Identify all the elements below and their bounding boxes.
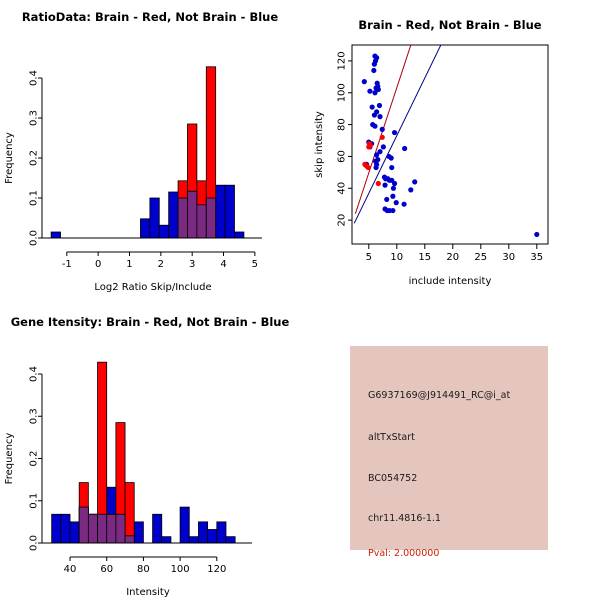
scatter-point [371, 68, 376, 73]
x-tick-label: 35 [530, 252, 543, 263]
y-tick-label: 20 [337, 214, 348, 227]
histogram-bar-overlap [197, 205, 206, 238]
ratio-histogram-title: RatioData: Brain - Red, Not Brain - Blue [0, 10, 300, 24]
y-tick-label: 0.4 [29, 366, 40, 382]
histogram-bar-not-brain [52, 514, 61, 543]
histogram-bar-not-brain [198, 522, 207, 543]
histogram-bar-overlap [187, 191, 196, 238]
scatter-point [377, 103, 382, 108]
y-tick-label: 0.1 [29, 190, 40, 206]
histogram-bar-not-brain [217, 522, 226, 543]
scatter-point [370, 104, 375, 109]
plot-frame [352, 45, 548, 244]
scatter-point [372, 124, 377, 129]
histogram-bar-not-brain [226, 537, 235, 543]
scatter-point [362, 79, 367, 84]
ratio-histogram-panel: RatioData: Brain - Red, Not Brain - Blue… [0, 0, 300, 300]
y-tick-label: 0.3 [29, 110, 40, 126]
x-tick-label: 2 [158, 259, 164, 270]
histogram-bar-not-brain [162, 537, 171, 543]
y-tick-label: 0.2 [29, 150, 40, 166]
histogram-bar-overlap [125, 536, 134, 543]
scatter-point [372, 112, 377, 117]
histogram-bar-not-brain [150, 198, 159, 238]
scatter-point [366, 165, 371, 170]
histogram-bar-not-brain [225, 185, 234, 238]
scatter-point [366, 144, 371, 149]
histogram-bar-overlap [79, 507, 88, 543]
accession-text: BC054752 [368, 473, 417, 484]
x-tick-label: 5 [366, 252, 372, 263]
y-tick-label: 120 [337, 51, 348, 70]
scatter-point [394, 200, 399, 205]
y-axis-label: Frequency [4, 433, 15, 485]
scatter-point [372, 62, 377, 67]
histogram-bar-not-brain [51, 232, 60, 238]
ratio-histogram-plot: 0.00.10.20.30.4-1012345Log2 Ratio Skip/I… [0, 0, 300, 300]
x-tick-label: 60 [100, 564, 113, 575]
y-tick-label: 0.1 [29, 493, 40, 509]
scatter-point [376, 181, 381, 186]
scatter-point [412, 179, 417, 184]
x-tick-label: 20 [446, 252, 459, 263]
x-tick-label: 0 [95, 259, 101, 270]
x-tick-label: 100 [171, 564, 190, 575]
x-axis-label: include intensity [409, 276, 492, 287]
histogram-bar-not-brain [180, 507, 189, 543]
scatter-point [374, 152, 379, 157]
scatter-point [377, 114, 382, 119]
x-axis-label: Log2 Ratio Skip/Include [94, 282, 211, 293]
x-tick-label: 10 [390, 252, 403, 263]
y-tick-label: 0.2 [29, 451, 40, 467]
x-tick-label: 40 [64, 564, 77, 575]
y-tick-label: 0.0 [29, 230, 40, 246]
scatter-plot: 204060801001205101520253035include inten… [300, 0, 600, 300]
scatter-point [390, 194, 395, 199]
locus-text: chr11.4816-1.1 [368, 513, 441, 524]
histogram-bar-not-brain [189, 537, 198, 543]
scatter-point [373, 165, 378, 170]
x-tick-label: 5 [252, 259, 258, 270]
scatter-point [381, 144, 386, 149]
x-tick-label: -1 [62, 259, 72, 270]
x-tick-label: 120 [207, 564, 226, 575]
scatter-point [380, 135, 385, 140]
scatter-point [401, 202, 406, 207]
histogram-bar-not-brain [169, 192, 178, 238]
histogram-bar-not-brain [234, 232, 243, 238]
histogram-bar-not-brain [134, 522, 143, 543]
gene-histogram-plot: 0.00.10.20.30.4406080100120IntensityFreq… [0, 300, 300, 600]
pval-text: Pval: 2.000000 [368, 548, 439, 559]
y-tick-label: 60 [337, 150, 348, 163]
histogram-bar-overlap [98, 514, 107, 543]
regression-line-not-brain-fit [354, 43, 441, 223]
histogram-bar-overlap [88, 514, 97, 543]
scatter-point [390, 208, 395, 213]
scatter-point [392, 130, 397, 135]
x-tick-label: 15 [418, 252, 431, 263]
y-tick-label: 0.3 [29, 408, 40, 424]
histogram-bar-not-brain [153, 514, 162, 543]
y-axis-label: Frequency [4, 132, 15, 184]
x-tick-label: 3 [189, 259, 195, 270]
histogram-bar-overlap [116, 514, 125, 543]
scatter-title: Brain - Red, Not Brain - Blue [300, 18, 600, 32]
x-axis-label: Intensity [126, 587, 170, 598]
scatter-point [367, 89, 372, 94]
scatter-point [402, 146, 407, 151]
histogram-bar-overlap [178, 198, 187, 238]
histogram-bar-not-brain [216, 185, 225, 238]
histogram-bar-not-brain [140, 219, 149, 238]
histogram-bar-not-brain [70, 522, 79, 543]
y-tick-label: 80 [337, 118, 348, 131]
scatter-point [391, 186, 396, 191]
histogram-bar-not-brain [208, 529, 217, 543]
histogram-bar-brain [125, 483, 134, 543]
x-tick-label: 30 [502, 252, 515, 263]
scatter-point [392, 181, 397, 186]
y-tick-label: 0.4 [29, 70, 40, 86]
y-tick-label: 0.0 [29, 535, 40, 551]
x-tick-label: 25 [474, 252, 487, 263]
probe-id-text: G6937169@J914491_RC@i_at [368, 390, 510, 401]
scatter-point [372, 90, 377, 95]
y-axis-label: skip intensity [314, 111, 325, 178]
y-tick-label: 100 [337, 83, 348, 102]
x-tick-label: 1 [126, 259, 132, 270]
gene-histogram-panel: Gene Itensity: Brain - Red, Not Brain - … [0, 300, 300, 600]
histogram-bar-overlap [206, 198, 215, 238]
scatter-point [389, 155, 394, 160]
scatter-point [534, 232, 539, 237]
histogram-bar-overlap [107, 514, 116, 543]
gene-histogram-title: Gene Itensity: Brain - Red, Not Brain - … [0, 315, 300, 329]
scatter-panel: Brain - Red, Not Brain - Blue 2040608010… [300, 0, 600, 300]
scatter-point [382, 183, 387, 188]
scatter-point [380, 127, 385, 132]
scatter-point [384, 197, 389, 202]
histogram-bar-not-brain [159, 225, 168, 238]
gene-info-panel: G6937169@J914491_RC@i_at altTxStart BC05… [350, 346, 548, 550]
y-tick-label: 40 [337, 182, 348, 195]
event-type-text: altTxStart [368, 432, 415, 443]
histogram-bar-not-brain [61, 514, 70, 543]
scatter-point [408, 187, 413, 192]
x-tick-label: 4 [220, 259, 226, 270]
scatter-point [389, 165, 394, 170]
x-tick-label: 80 [137, 564, 150, 575]
